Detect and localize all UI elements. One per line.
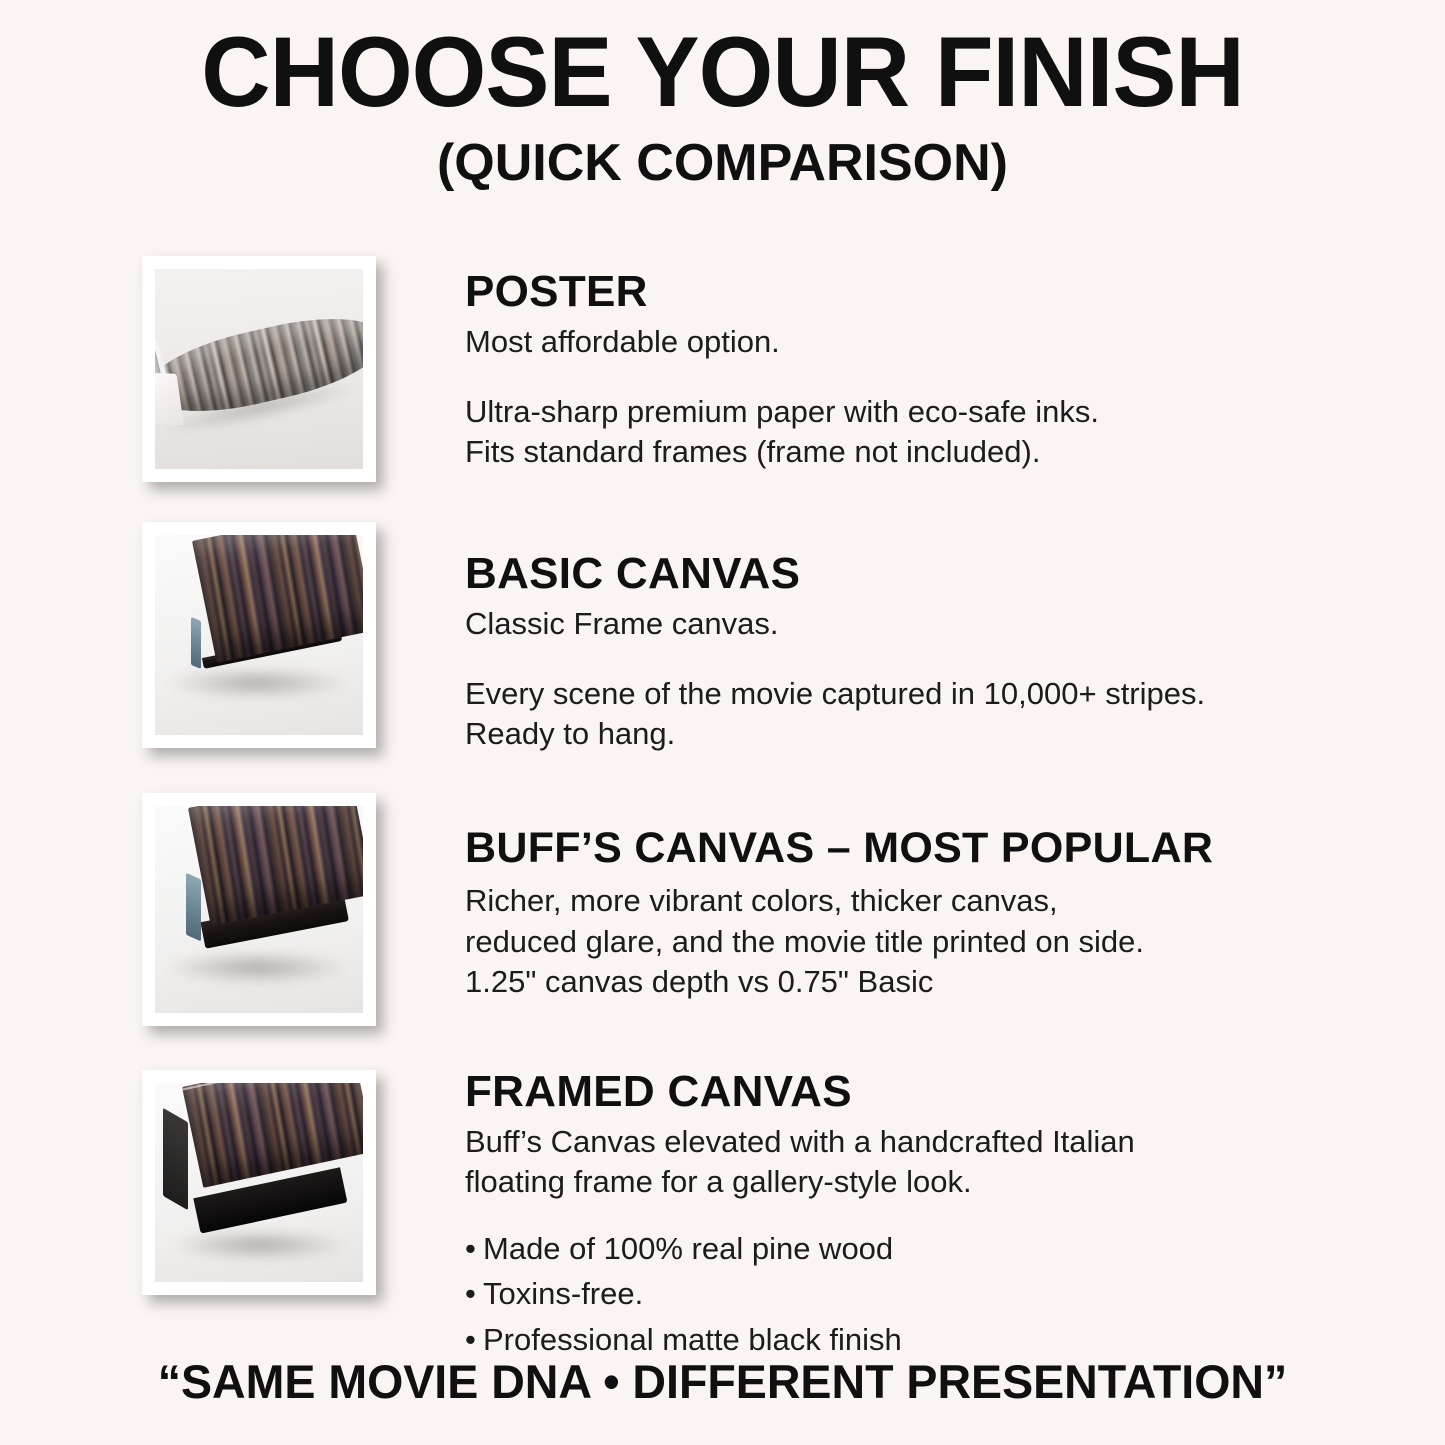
framed-canvas-copy: FRAMED CANVAS Buff’s Canvas elevated wit… [465, 1068, 1285, 1364]
buffs-canvas-body-line-3: 1.25" canvas depth vs 0.75" Basic [465, 962, 1295, 1002]
framed-canvas-bullet-list: •Made of 100% real pine wood •Toxins-fre… [465, 1228, 1285, 1360]
buffs-canvas-copy: BUFF’S CANVAS – MOST POPULAR Richer, mor… [465, 825, 1295, 1002]
poster-thumbnail-card [142, 256, 376, 482]
poster-body-line-1: Ultra-sharp premium paper with eco-safe … [465, 392, 1285, 432]
framed-canvas-body-line-1: Buff’s Canvas elevated with a handcrafte… [465, 1122, 1285, 1162]
bullet-text: Professional matte black finish [483, 1322, 902, 1357]
basic-canvas-lede: Classic Frame canvas. [465, 604, 1285, 644]
poster-body-line-2: Fits standard frames (frame not included… [465, 432, 1285, 472]
rolled-poster-image [155, 269, 363, 469]
buffs-canvas-body-line-2: reduced glare, and the movie title print… [465, 922, 1295, 962]
list-item: •Toxins-free. [465, 1273, 1285, 1314]
framed-canvas-heading: FRAMED CANVAS [465, 1068, 1285, 1116]
bullet-text: Made of 100% real pine wood [483, 1231, 893, 1266]
framed-canvas-thumbnail-card [142, 1070, 376, 1295]
bullet-marker-icon: • [465, 1228, 483, 1269]
basic-canvas-heading: BASIC CANVAS [465, 550, 1285, 598]
poster-heading: POSTER [465, 268, 1285, 316]
framed-canvas-body-line-2: floating frame for a gallery-style look. [465, 1162, 1285, 1202]
basic-canvas-copy: BASIC CANVAS Classic Frame canvas. Every… [465, 550, 1285, 754]
buffs-canvas-thumbnail-card [142, 793, 376, 1026]
buffs-canvas-body-line-1: Richer, more vibrant colors, thicker can… [465, 881, 1295, 921]
poster-copy: POSTER Most affordable option. Ultra-sha… [465, 268, 1285, 472]
comparison-rows: POSTER Most affordable option. Ultra-sha… [0, 0, 1445, 1445]
buffs-canvas-image [155, 806, 363, 1013]
framed-canvas-image [155, 1083, 363, 1282]
buffs-canvas-heading: BUFF’S CANVAS – MOST POPULAR [465, 825, 1295, 871]
bullet-text: Toxins-free. [483, 1276, 643, 1311]
basic-canvas-body-line-2: Ready to hang. [465, 714, 1285, 754]
infographic-page: CHOOSE YOUR FINISH (QUICK COMPARISON) PO… [0, 0, 1445, 1445]
basic-canvas-image [155, 535, 363, 735]
poster-lede: Most affordable option. [465, 322, 1285, 362]
footer-tagline: “SAME MOVIE DNA • DIFFERENT PRESENTATION… [7, 1354, 1438, 1409]
bullet-marker-icon: • [465, 1273, 483, 1314]
list-item: •Made of 100% real pine wood [465, 1228, 1285, 1269]
basic-canvas-thumbnail-card [142, 522, 376, 748]
basic-canvas-body-line-1: Every scene of the movie captured in 10,… [465, 674, 1285, 714]
